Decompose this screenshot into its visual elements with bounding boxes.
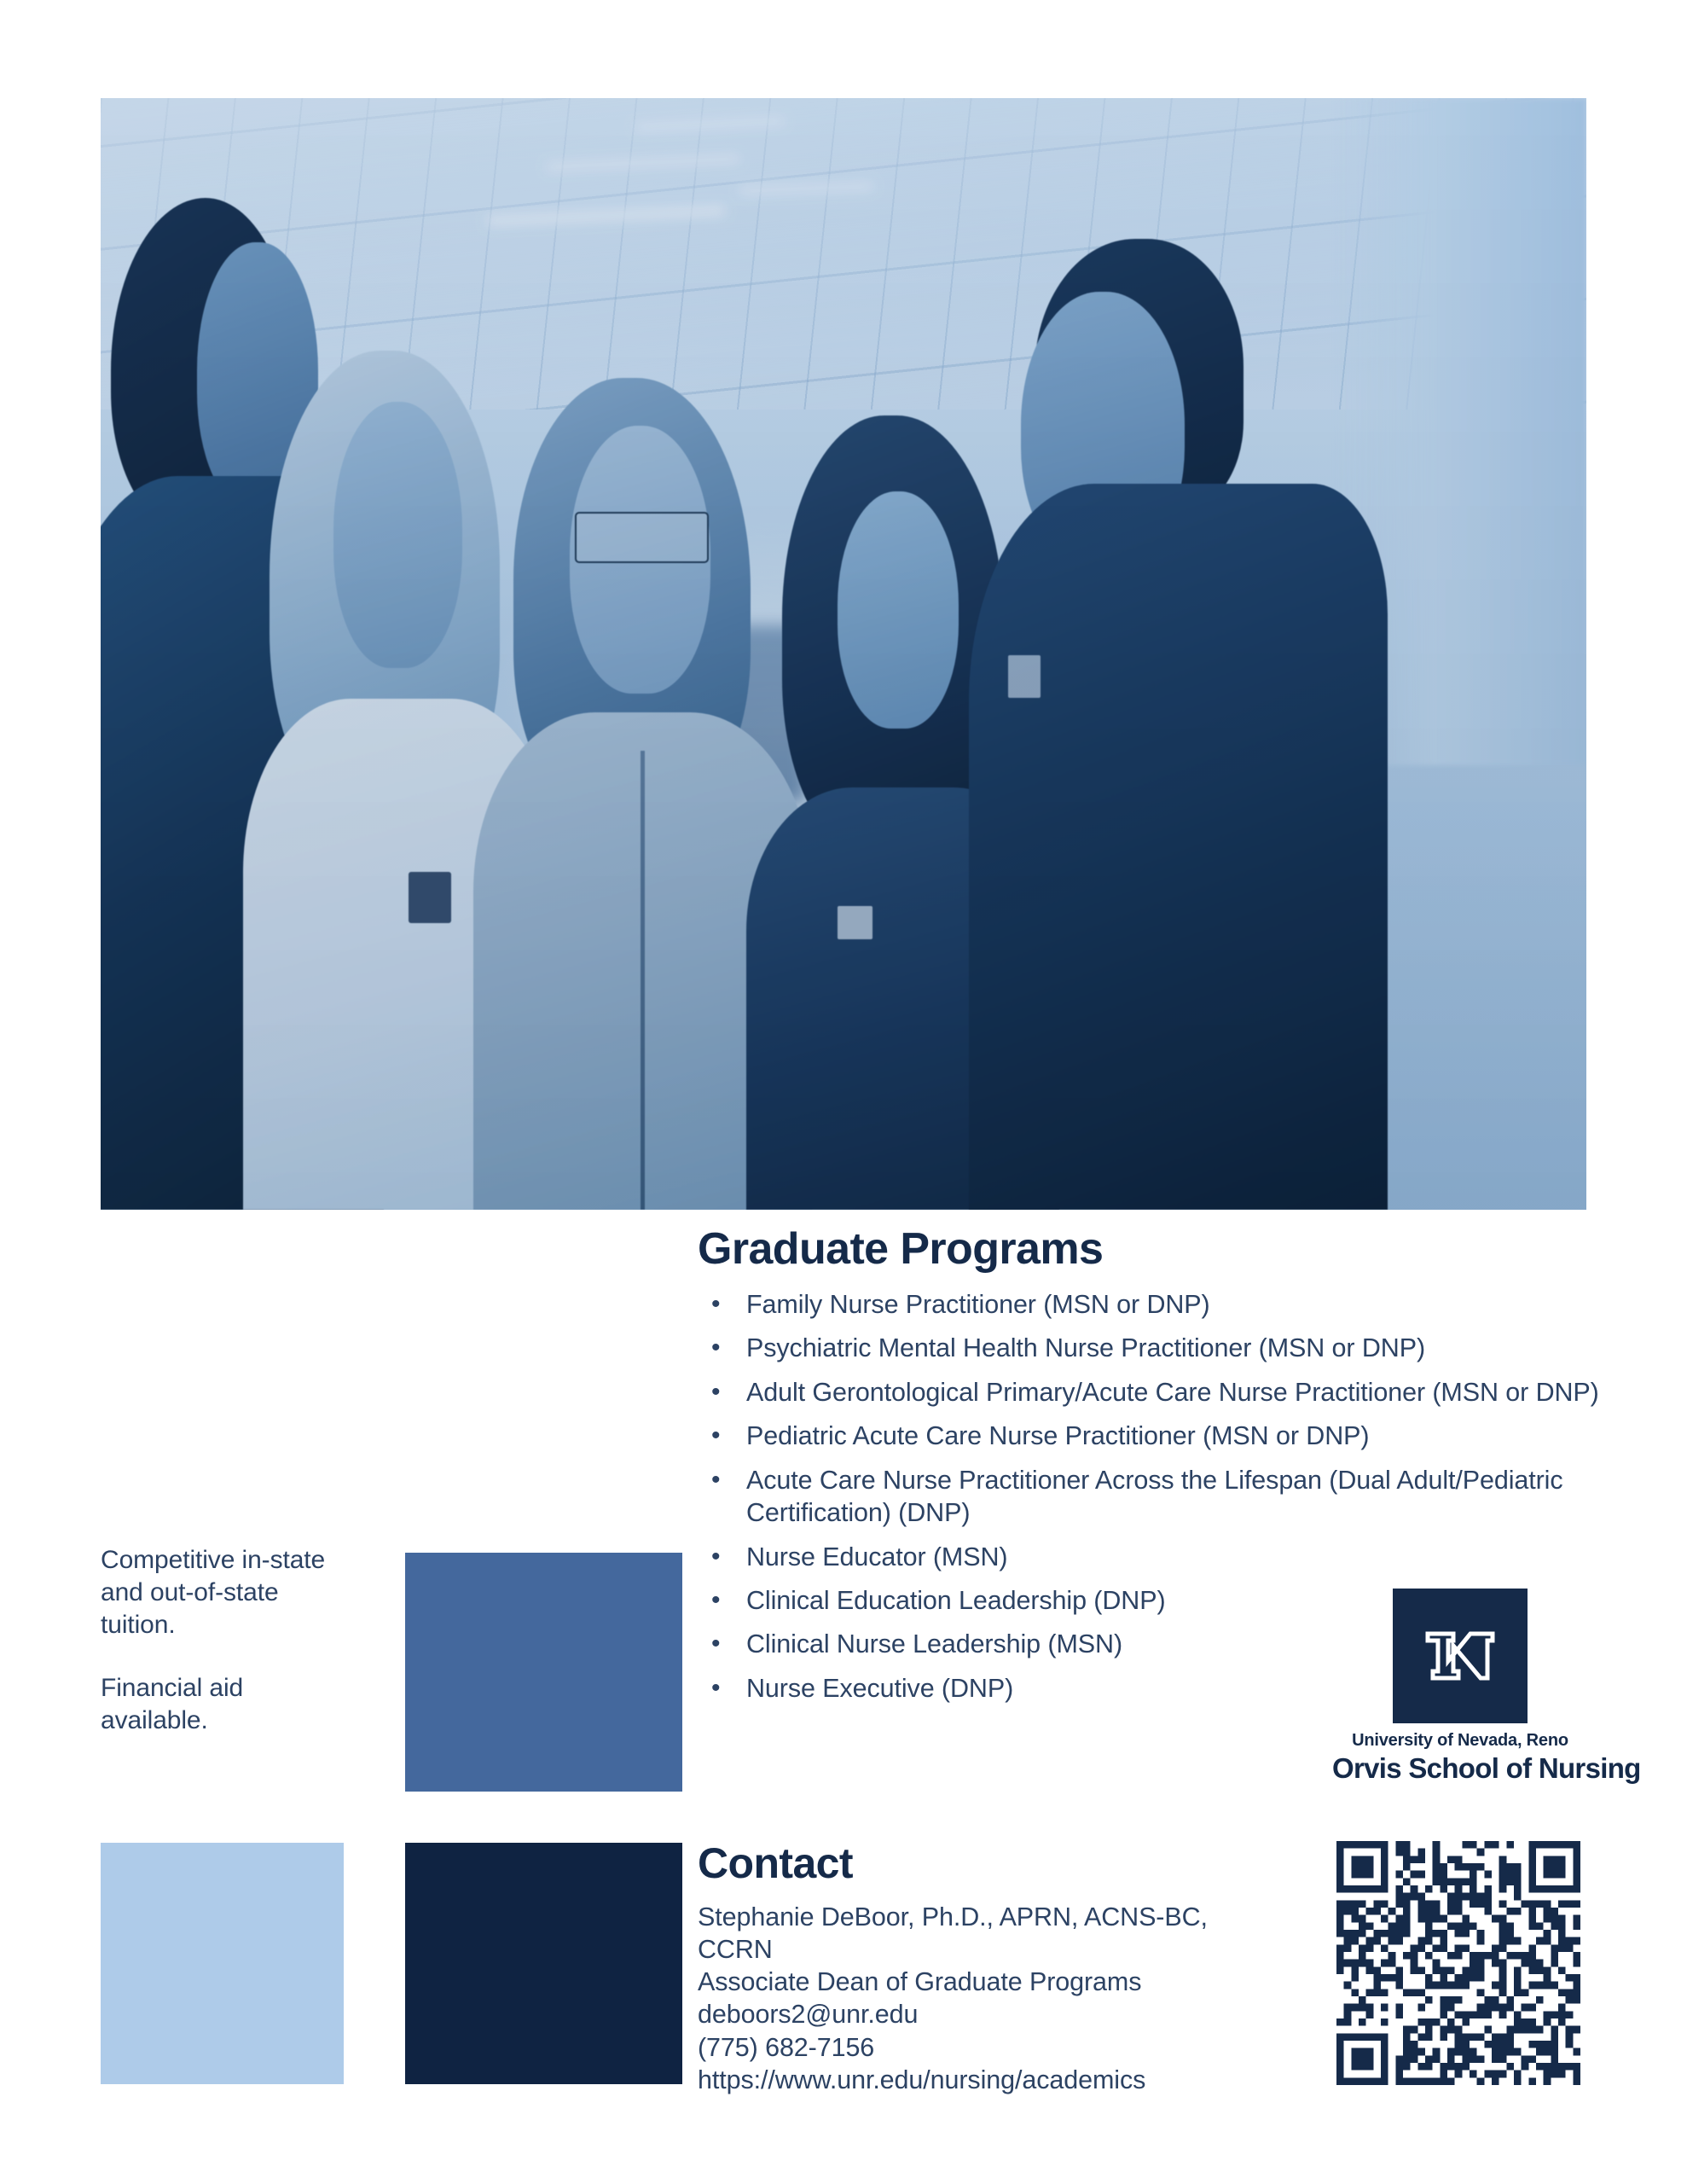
unr-block-n-icon	[1393, 1589, 1528, 1723]
head-shape	[333, 402, 462, 668]
orvis-patch-icon	[409, 872, 451, 923]
bullet-icon: •	[711, 1332, 720, 1364]
qr-code-icon[interactable]	[1330, 1841, 1586, 2085]
color-swatch-light-blue	[101, 1843, 344, 2084]
ceiling-light-icon	[635, 118, 784, 130]
program-list-item: •Psychiatric Mental Health Nurse Practit…	[698, 1332, 1602, 1364]
unr-orvis-logo: University of Nevada, Reno Orvis School …	[1332, 1589, 1588, 1785]
contact-email[interactable]: deboors2@unr.edu	[698, 1998, 1278, 2030]
head-shape	[838, 491, 959, 728]
tuition-line-2: Financial aid available.	[101, 1672, 348, 1737]
body-shape	[969, 484, 1388, 1210]
program-label: Psychiatric Mental Health Nurse Practiti…	[746, 1333, 1425, 1362]
programs-title: Graduate Programs	[698, 1226, 1103, 1273]
bullet-icon: •	[711, 1628, 720, 1660]
bullet-icon: •	[711, 1464, 720, 1496]
program-list-item: •Nurse Educator (MSN)	[698, 1541, 1602, 1573]
program-list-item: •Pediatric Acute Care Nurse Practitioner…	[698, 1420, 1602, 1452]
tuition-text-block: Competitive in-state and out-of-state tu…	[101, 1544, 348, 1737]
contact-url[interactable]: https://www.unr.edu/nursing/academics	[698, 2064, 1278, 2096]
ceiling-light-icon	[547, 155, 740, 171]
contact-phone[interactable]: (775) 682-7156	[698, 2031, 1278, 2064]
program-list-item: •Family Nurse Practitioner (MSN or DNP)	[698, 1288, 1602, 1321]
program-label: Pediatric Acute Care Nurse Practitioner …	[746, 1421, 1369, 1450]
logo-school-name: Orvis School of Nursing	[1332, 1752, 1588, 1785]
glasses-icon	[575, 512, 708, 563]
orvis-patch-icon	[1008, 655, 1041, 698]
contact-name: Stephanie DeBoor, Ph.D., APRN, ACNS-BC, …	[698, 1901, 1278, 1966]
contact-title: Contact	[698, 1838, 853, 1888]
program-label: Acute Care Nurse Practitioner Across the…	[746, 1466, 1563, 1527]
person-figure	[962, 142, 1289, 1210]
color-swatch-dark-navy	[405, 1843, 682, 2084]
bullet-icon: •	[711, 1376, 720, 1409]
program-label: Nurse Executive (DNP)	[746, 1674, 1013, 1703]
tuition-line-1: Competitive in-state and out-of-state tu…	[101, 1544, 348, 1641]
bullet-icon: •	[711, 1541, 720, 1573]
zipper-detail	[641, 751, 645, 1210]
program-label: Nurse Educator (MSN)	[746, 1542, 1007, 1571]
color-swatch-medium-blue	[405, 1553, 682, 1792]
program-label: Family Nurse Practitioner (MSN or DNP)	[746, 1290, 1210, 1319]
bullet-icon: •	[711, 1584, 720, 1617]
program-label: Clinical Nurse Leadership (MSN)	[746, 1629, 1122, 1658]
contact-role: Associate Dean of Graduate Programs	[698, 1966, 1278, 1998]
logo-university-name: University of Nevada, Reno	[1332, 1731, 1588, 1751]
ceiling-light-icon	[739, 183, 873, 194]
program-label: Clinical Education Leadership (DNP)	[746, 1586, 1166, 1615]
person-figure	[501, 253, 784, 1210]
program-list-item: •Acute Care Nurse Practitioner Across th…	[698, 1464, 1602, 1530]
orvis-patch-icon	[838, 906, 872, 940]
program-label: Adult Gerontological Primary/Acute Care …	[746, 1378, 1599, 1407]
hero-photo	[101, 98, 1586, 1210]
contact-details: Stephanie DeBoor, Ph.D., APRN, ACNS-BC, …	[698, 1901, 1278, 2096]
bullet-icon: •	[711, 1672, 720, 1705]
program-list-item: •Adult Gerontological Primary/Acute Care…	[698, 1376, 1602, 1409]
bullet-icon: •	[711, 1420, 720, 1452]
bullet-icon: •	[711, 1288, 720, 1321]
